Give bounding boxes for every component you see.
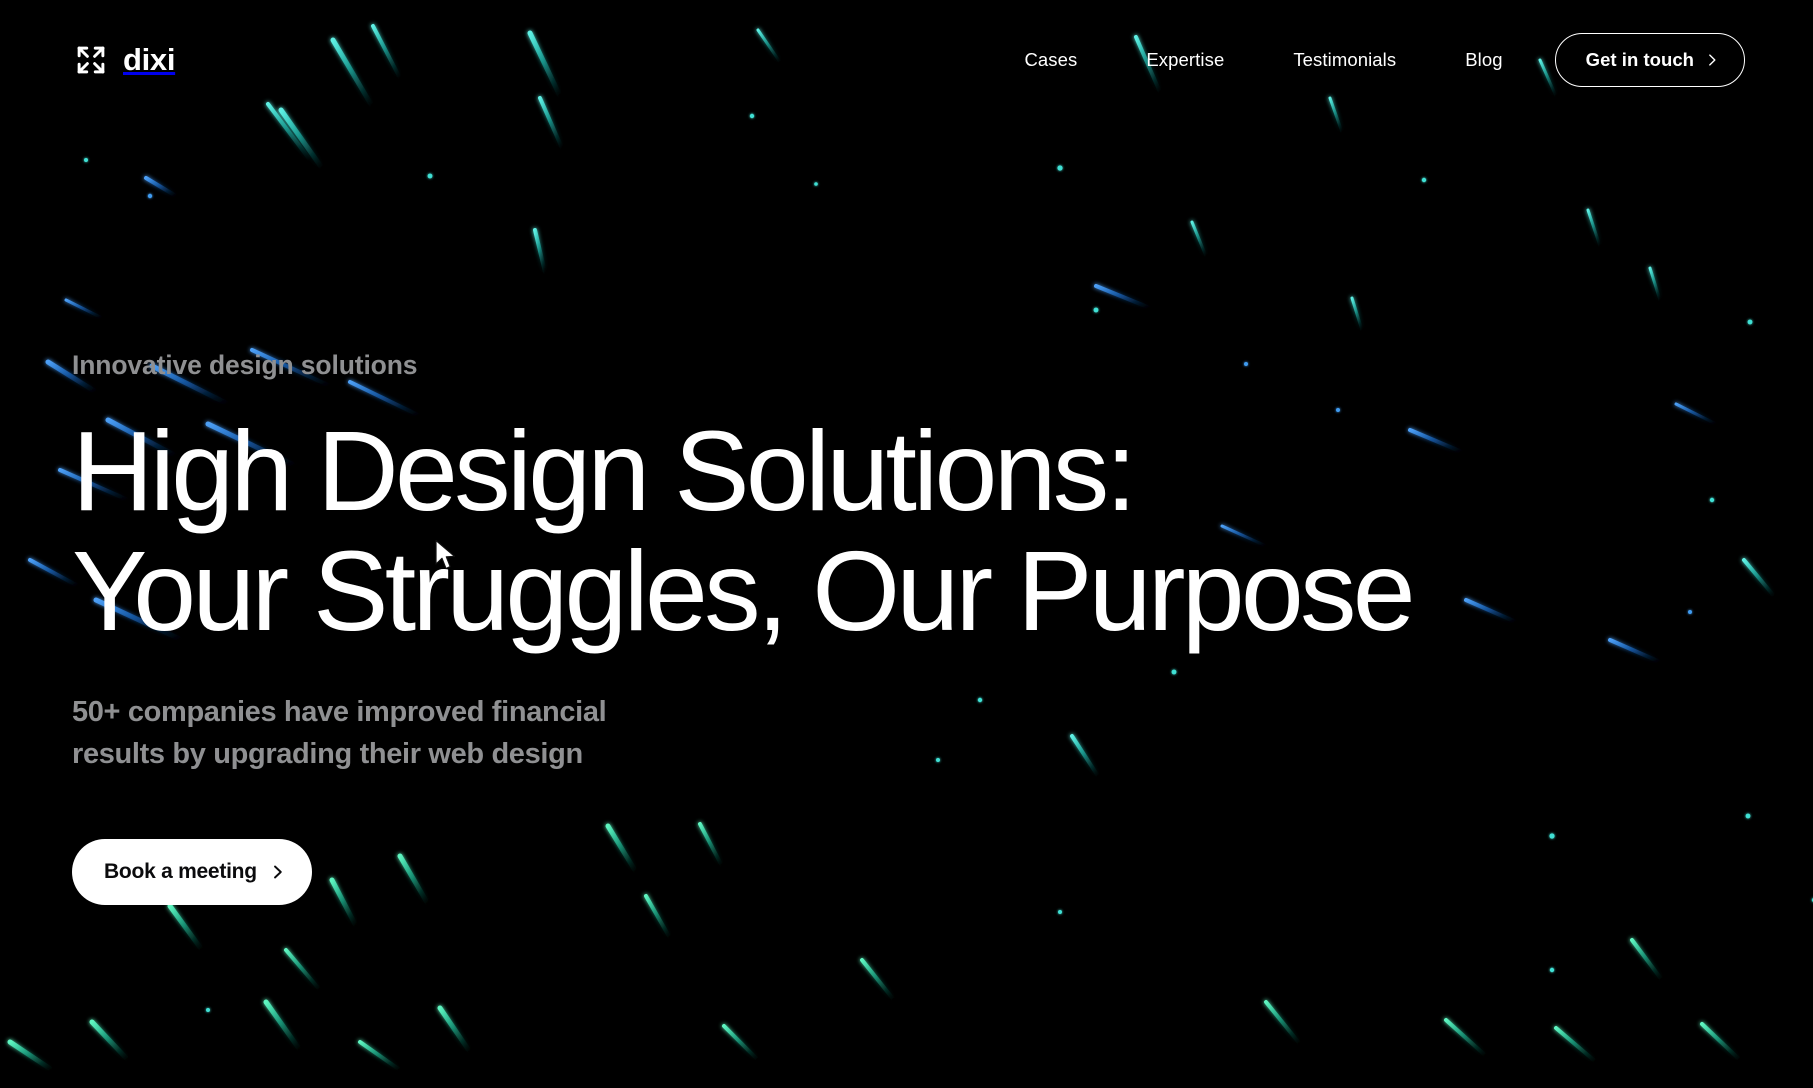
brand-name: dixi — [123, 44, 175, 77]
hero-section: Innovative design solutions High Design … — [72, 352, 1732, 905]
hero-subheadline-line-2: results by upgrading their web design — [72, 734, 1732, 776]
hero-eyebrow: Innovative design solutions — [72, 352, 1732, 379]
nav-item-testimonials[interactable]: Testimonials — [1293, 39, 1396, 81]
hero-headline-line-2: Your Struggles, Our Purpose — [72, 531, 1732, 652]
butterfly-x-icon — [72, 41, 110, 79]
hero-subheadline: 50+ companies have improved financial re… — [72, 692, 1732, 776]
main-navigation: Cases Expertise Testimonials Blog Get in… — [1024, 33, 1745, 87]
landing-page: dixi Cases Expertise Testimonials Blog G… — [0, 0, 1813, 1088]
get-in-touch-button[interactable]: Get in touch — [1555, 33, 1745, 87]
hero-subheadline-line-1: 50+ companies have improved financial — [72, 692, 1732, 734]
site-header: dixi Cases Expertise Testimonials Blog G… — [0, 0, 1813, 120]
hero-headline-line-1: High Design Solutions: — [72, 411, 1732, 532]
hero-headline: High Design Solutions: Your Struggles, O… — [72, 411, 1732, 653]
nav-item-blog[interactable]: Blog — [1465, 39, 1502, 81]
book-a-meeting-button[interactable]: Book a meeting — [72, 839, 312, 905]
nav-item-cases[interactable]: Cases — [1024, 39, 1077, 81]
brand-logo[interactable]: dixi — [72, 37, 175, 83]
chevron-right-icon — [1707, 52, 1718, 68]
nav-item-expertise[interactable]: Expertise — [1146, 39, 1224, 81]
chevron-right-icon — [272, 863, 284, 881]
get-in-touch-label: Get in touch — [1586, 49, 1694, 71]
book-a-meeting-label: Book a meeting — [104, 860, 257, 884]
